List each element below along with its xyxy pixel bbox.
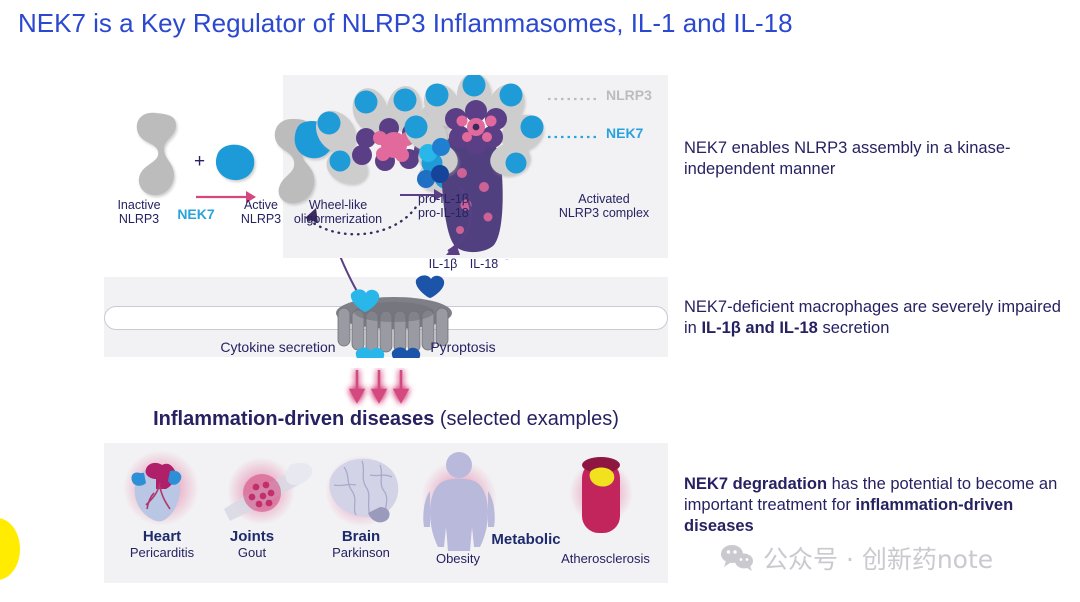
disease-name: Joints: [196, 528, 308, 545]
nek7-blob-free: [216, 145, 254, 180]
yellow-accent-shape: [0, 518, 20, 580]
disease-obesity-sub: Obesity: [402, 551, 514, 567]
label-pro-cytokines: pro-IL-1β pro-IL-18: [418, 192, 488, 220]
annotation-text-run: NEK7 enables NLRP3 assembly in a kinase-…: [684, 139, 1011, 178]
il18-at-pore: [416, 275, 444, 298]
inflammation-heading: Inflammation-driven diseases (selected e…: [104, 408, 668, 431]
secretion-graphic: [104, 258, 668, 358]
label-inactive-nlrp3: Inactive NLRP3: [104, 198, 174, 226]
annotation-text-run: secretion: [818, 319, 890, 337]
disease-sub: Parkinson: [305, 545, 417, 561]
annotation-bold-run: NEK7 degradation: [684, 475, 827, 493]
inflammation-heading-bold: Inflammation-driven diseases: [153, 408, 434, 430]
legend-leader-lines: [548, 99, 598, 137]
annotation-nek7-degradation: NEK7 degradation has the potential to be…: [684, 474, 1064, 537]
legend-label-nek7: NEK7: [606, 126, 670, 140]
downstream-arrows: [340, 368, 450, 408]
inactive-nlrp3-shape: [137, 113, 176, 195]
disease-atherosclerosis: Atherosclerosis: [543, 551, 668, 567]
annotation-nek7-deficient: NEK7-deficient macrophages are severely …: [684, 297, 1064, 339]
label-pyroptosis: Pyroptosis: [418, 340, 508, 354]
annotation-nek7-assembly: NEK7 enables NLRP3 assembly in a kinase-…: [684, 138, 1064, 180]
watermark: 公众号 · 创新药note: [720, 540, 993, 576]
disease-metabolic: Metabolic: [470, 531, 582, 548]
wechat-icon: [720, 544, 754, 572]
disease-sub: Atherosclerosis: [543, 551, 668, 567]
slide: NEK7 is a Key Regulator of NLRP3 Inflamm…: [0, 0, 1080, 602]
il18-released: [392, 347, 420, 358]
annotation-bold-run: IL-1β and IL-18: [701, 319, 817, 337]
disease-sub: Gout: [196, 545, 308, 561]
disease-brain: Brain Parkinson: [305, 528, 417, 561]
label-nek7: NEK7: [172, 207, 220, 221]
artery-icon: [582, 457, 620, 533]
pathway-graphic-top: +: [104, 75, 668, 260]
label-wheel-oligomerization: Wheel-like oligormerization: [280, 198, 396, 226]
watermark-text: 公众号 · 创新药note: [763, 540, 993, 576]
label-cytokine-secretion: Cytokine secretion: [208, 340, 348, 354]
page-title: NEK7 is a Key Regulator of NLRP3 Inflamm…: [18, 8, 1058, 39]
disease-joints: Joints Gout: [196, 528, 308, 561]
inflammation-heading-normal: (selected examples): [434, 408, 619, 430]
plus-sign: +: [194, 151, 205, 172]
label-activated-complex: Activated NLRP3 complex: [545, 192, 663, 220]
disease-name: Brain: [305, 528, 417, 545]
legend-label-nlrp3: NLRP3: [606, 88, 670, 102]
disease-name: Metabolic: [470, 531, 582, 548]
activated-nlrp3-complex: [398, 75, 549, 252]
disease-sub: Obesity: [402, 551, 514, 567]
